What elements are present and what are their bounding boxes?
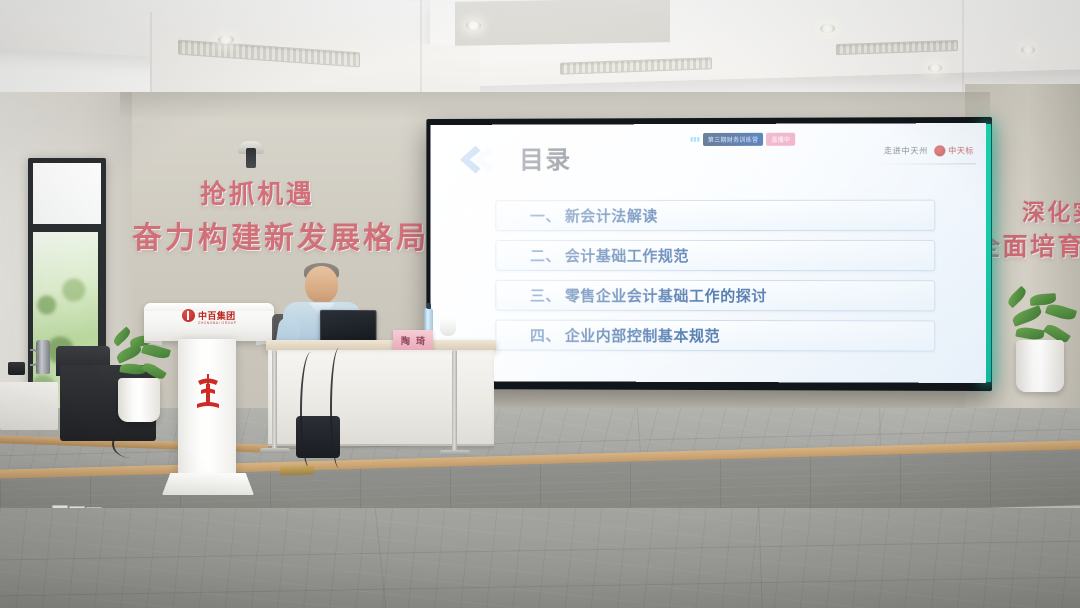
ceiling-downlight [218, 35, 234, 44]
dark-cup [8, 362, 25, 375]
carpet-seam [0, 577, 1080, 597]
toc-number: 一、 [530, 205, 561, 226]
toc-label: 零售企业会计基础工作的探讨 [565, 285, 767, 306]
ceiling-mic-stem [246, 148, 256, 168]
plant-pot-left [118, 378, 160, 422]
wall-slogan-left-line1: 抢抓机遇 [200, 174, 314, 211]
toc-label: 企业内部控制基本规范 [565, 325, 720, 346]
ceiling-recess [455, 0, 670, 46]
ceiling-downlight [1021, 46, 1035, 54]
name-plate: 陶 琦 [393, 330, 433, 351]
desk-leg [272, 350, 277, 450]
podium-brand-en: ZHONGBAI GROUP [198, 321, 237, 325]
wall-slogan-right-line1: 深化实 [1022, 193, 1080, 227]
badge-tag-label: 直播中 [766, 133, 795, 146]
toc-number: 三、 [530, 285, 561, 306]
carpet-seam [375, 508, 387, 608]
desk-foot [440, 450, 470, 455]
toc-number: 四、 [530, 325, 561, 346]
brand-mark: 中天标 [934, 145, 974, 156]
name-plate-char-1: 陶 [401, 334, 410, 347]
zhongbai-emblem-icon [194, 372, 222, 412]
laptop-cable [330, 348, 348, 468]
presentation-slide[interactable]: 目录 ▮▮▮ 第三期财务训练营 直播中 走进中天州 中天标 一、 新会计法解读 … [430, 123, 986, 383]
ceiling-downlight [928, 64, 942, 72]
chevron-left-logo-icon [454, 143, 501, 179]
side-table [0, 382, 58, 430]
window-transom-pane [33, 163, 101, 225]
paper-cup [440, 318, 456, 336]
slide-brand-row: 走进中天州 中天标 [884, 145, 974, 156]
wall-slogan-left-line2: 奋力构建新发展格局 [132, 213, 429, 257]
toc-label: 会计基础工作规范 [565, 245, 689, 266]
wall-top-shadow [120, 92, 990, 120]
floor-cable [112, 430, 150, 458]
toc-item[interactable]: 四、 企业内部控制基本规范 [495, 320, 935, 352]
zhongbai-logo-icon [182, 309, 195, 322]
lower-floor [0, 508, 1080, 608]
brand-underline [875, 163, 976, 164]
thermos-flask [36, 340, 50, 374]
plant-pot-right [1016, 340, 1064, 392]
livestream-badge: ▮▮▮ 第三期财务训练营 直播中 [690, 133, 795, 146]
window-mullion [28, 224, 106, 230]
carpet-seam [0, 541, 1080, 561]
table-of-contents: 一、 新会计法解读 二、 会计基础工作规范 三、 零售企业会计基础工作的探讨 四… [495, 200, 935, 361]
name-plate-char-2: 琦 [416, 334, 425, 347]
desk-foot [260, 448, 290, 453]
signal-icon: ▮▮▮ [690, 136, 700, 143]
toc-item[interactable]: 二、 会计基础工作规范 [495, 240, 935, 271]
conference-room-photo: 抢抓机遇 奋力构建新发展格局 深化实 全面培育新 目录 ▮▮▮ 第三期财务训练营… [0, 0, 1080, 608]
ceiling-downlight [466, 21, 481, 30]
brand-text: 走进中天州 [884, 145, 928, 156]
slide-title: 目录 [519, 140, 572, 176]
brand-mark-text: 中天标 [948, 145, 974, 156]
badge-pill-label: 第三期财务训练营 [703, 133, 763, 146]
ceiling-downlight [820, 24, 835, 33]
toc-item[interactable]: 三、 零售企业会计基础工作的探讨 [495, 280, 935, 312]
power-cable [300, 352, 322, 470]
desk-leg [452, 350, 457, 452]
toc-number: 二、 [530, 245, 561, 266]
toc-label: 新会计法解读 [565, 205, 658, 226]
brand-circle-icon [934, 145, 945, 156]
podium-base [162, 473, 254, 495]
carpet-seam [758, 508, 762, 608]
toc-item[interactable]: 一、 新会计法解读 [495, 200, 935, 231]
power-strip[interactable] [280, 465, 314, 475]
